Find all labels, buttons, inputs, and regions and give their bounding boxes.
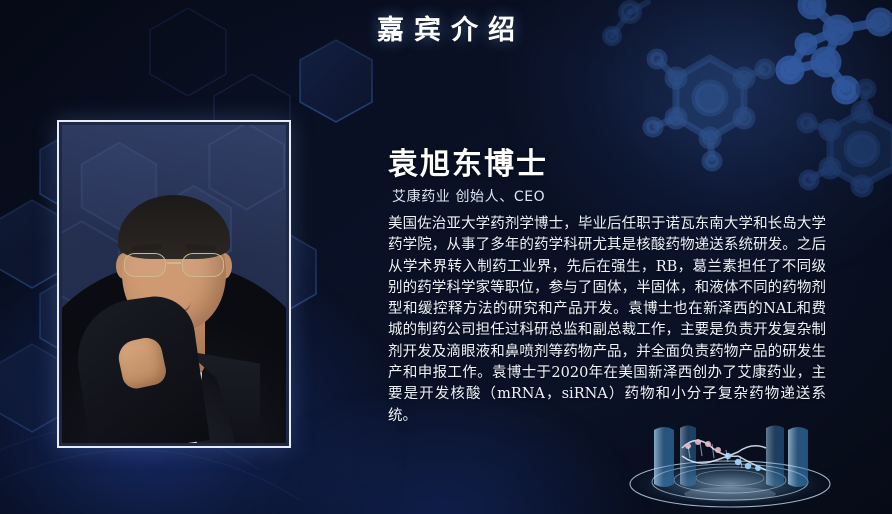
speaker-subtitle: 艾康药业 创始人、CEO	[392, 186, 545, 206]
portrait-lens-left	[124, 253, 166, 277]
speaker-bio: 美国佐治亚大学药剂学博士，毕业后任职于诺瓦东南大学和长岛大学药学院，从事了多年的…	[388, 214, 826, 427]
dna-helix-icon	[620, 402, 840, 512]
portrait-glasses-bridge	[167, 262, 181, 264]
speaker-name: 袁旭东博士	[388, 139, 548, 183]
speaker-portrait	[62, 125, 286, 443]
page-title: 嘉宾介绍	[0, 8, 892, 47]
speaker-portrait-frame	[57, 120, 291, 448]
portrait-glasses	[118, 253, 230, 277]
portrait-lens-right	[182, 253, 224, 277]
guest-introduction-slide: 嘉宾介绍	[0, 0, 892, 514]
